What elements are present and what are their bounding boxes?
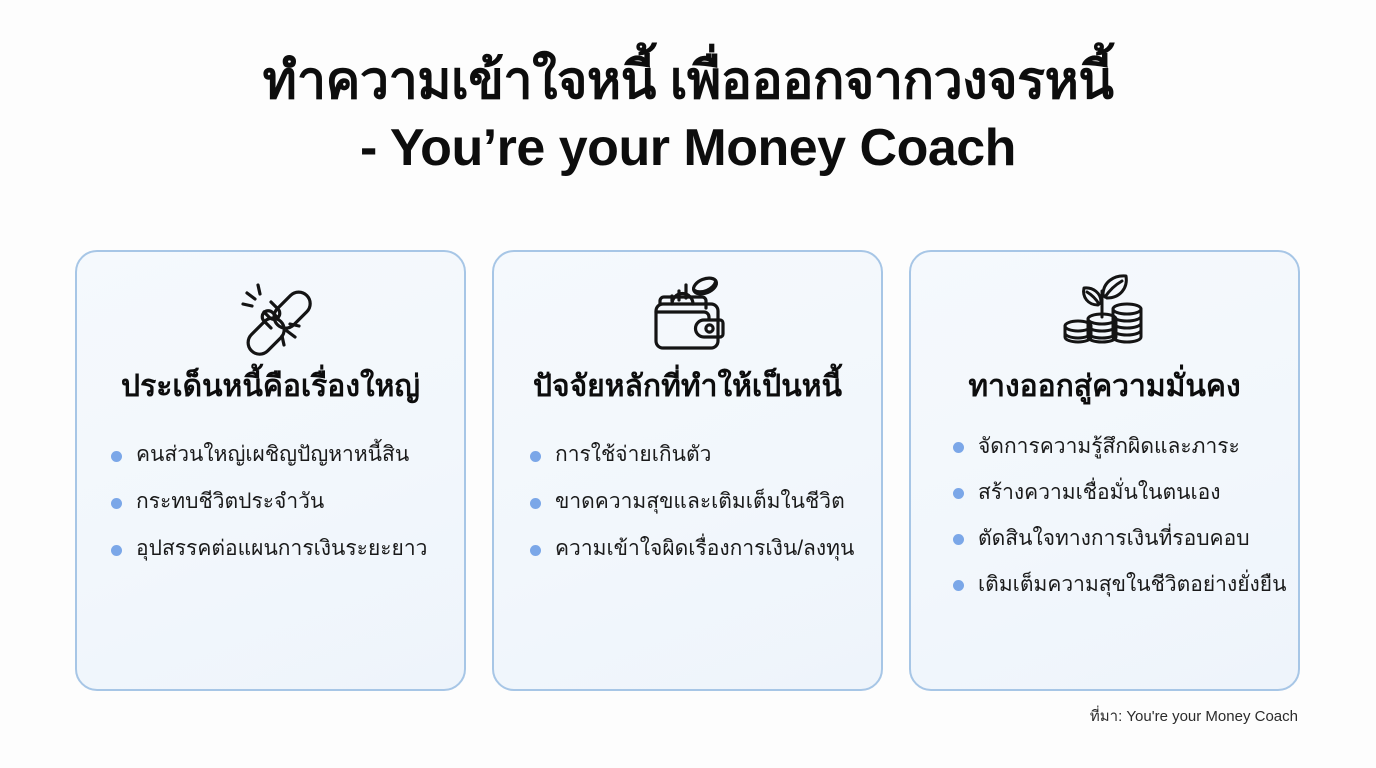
card-debt-is-a-big-issue: ประเด็นหนี้คือเรื่องใหญ่ คนส่วนใหญ่เผชิญ… [75,250,466,691]
card-heading: ทางออกสู่ความมั่นคง [925,368,1284,406]
list-item: สร้างความเชื่อมั่นในตนเอง [953,470,1284,516]
page-title-line-1: ทำความเข้าใจหนี้ เพื่อออกจากวงจรหนี้ [0,48,1376,115]
list-item-label: ตัดสินใจทางการเงินที่รอบคอบ [978,525,1250,552]
list-item: คนส่วนใหญ่เผชิญปัญหาหนี้สิน [111,432,450,479]
card-path-to-stability: ทางออกสู่ความมั่นคง จัดการความรู้สึกผิดแ… [909,250,1300,691]
list-item: อุปสรรคต่อแผนการเงินระยะยาว [111,526,450,573]
bullet-dot-icon [111,545,122,556]
bullet-dot-icon [953,534,964,545]
bullet-dot-icon [111,451,122,462]
bullet-dot-icon [530,451,541,462]
bullet-dot-icon [530,498,541,509]
list-item-label: ความเข้าใจผิดเรื่องการเงิน/ลงทุน [555,535,854,562]
cards-row: ประเด็นหนี้คือเรื่องใหญ่ คนส่วนใหญ่เผชิญ… [75,250,1300,691]
list-item: การใช้จ่ายเกินตัว [530,432,867,479]
list-item-label: กระทบชีวิตประจำวัน [136,488,324,515]
list-item-label: การใช้จ่ายเกินตัว [555,441,711,468]
list-item: จัดการความรู้สึกผิดและภาระ [953,424,1284,470]
bullet-dot-icon [953,442,964,453]
bullet-list: จัดการความรู้สึกผิดและภาระ สร้างความเชื่… [925,424,1284,608]
bullet-dot-icon [953,488,964,499]
list-item: กระทบชีวิตประจำวัน [111,479,450,526]
list-item-label: อุปสรรคต่อแผนการเงินระยะยาว [136,535,427,562]
wallet-with-coins-icon [508,252,867,362]
list-item-label: จัดการความรู้สึกผิดและภาระ [978,433,1240,460]
list-item-label: สร้างความเชื่อมั่นในตนเอง [978,479,1221,506]
bullet-list: การใช้จ่ายเกินตัว ขาดความสุขและเติมเต็มใ… [508,432,867,573]
page-title-line-2: - You’re your Money Coach [0,115,1376,182]
list-item: เติมเต็มความสุขในชีวิตอย่างยั่งยืน [953,562,1284,608]
list-item: ความเข้าใจผิดเรื่องการเงิน/ลงทุน [530,526,867,573]
list-item-label: เติมเต็มความสุขในชีวิตอย่างยั่งยืน [978,571,1286,598]
source-note: ที่มา: You're your Money Coach [1090,704,1298,728]
bullet-dot-icon [530,545,541,556]
coins-with-plant-icon [925,252,1284,362]
card-heading: ประเด็นหนี้คือเรื่องใหญ่ [91,368,450,406]
list-item-label: คนส่วนใหญ่เผชิญปัญหาหนี้สิน [136,441,409,468]
list-item: ตัดสินใจทางการเงินที่รอบคอบ [953,516,1284,562]
bullet-list: คนส่วนใหญ่เผชิญปัญหาหนี้สิน กระทบชีวิตปร… [91,432,450,573]
list-item: ขาดความสุขและเติมเต็มในชีวิต [530,479,867,526]
broken-chain-icon [91,252,450,362]
card-main-causes-of-debt: ปัจจัยหลักที่ทำให้เป็นหนี้ การใช้จ่ายเกิ… [492,250,883,691]
bullet-dot-icon [111,498,122,509]
bullet-dot-icon [953,580,964,591]
page-title: ทำความเข้าใจหนี้ เพื่อออกจากวงจรหนี้ - Y… [0,48,1376,181]
list-item-label: ขาดความสุขและเติมเต็มในชีวิต [555,488,845,515]
card-heading: ปัจจัยหลักที่ทำให้เป็นหนี้ [508,368,867,406]
